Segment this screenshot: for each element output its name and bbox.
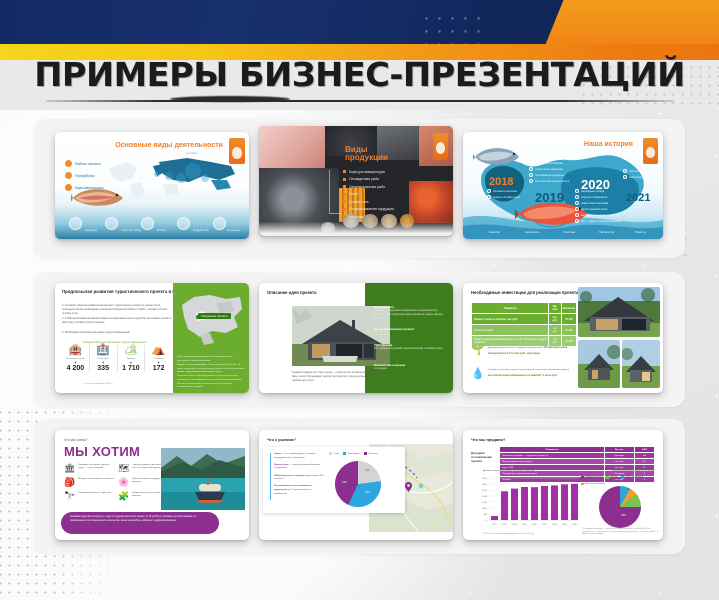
block-body: Тип туризма: внутренний, оздоровительный…	[374, 347, 444, 351]
investment-note-1: 🌱 Единовременные выплаты сотрудникам орг…	[471, 345, 579, 356]
block-body: размещение модульных некапитальных соору…	[374, 309, 444, 321]
check-icon	[575, 189, 579, 193]
footer-bubble	[69, 217, 82, 230]
tourism-paragraph-1: 1. Согласно стратегии развития внутренне…	[62, 304, 174, 316]
sales-pie-legend: Размещение в домах Питание Прокат оборуд…	[581, 476, 653, 485]
brand-badge	[433, 133, 448, 160]
list-item: АО — лидер в своём направлении	[575, 218, 621, 224]
history-footer-label: Логистика	[563, 231, 575, 235]
block-link[interactable]: 2024-2026 г.г.	[374, 331, 444, 334]
we-want-kicker: Что мы хотим?	[64, 438, 87, 442]
legend-swatch	[343, 452, 346, 455]
bullet-icon	[343, 185, 346, 188]
bullet-icon	[343, 200, 346, 203]
backpack-icon: 🎒	[64, 478, 75, 487]
history-footer-label: Качество	[489, 231, 500, 235]
slide-activities[interactable]: Основные виды деятельности на 2021	[55, 132, 249, 239]
stat-value: 4 200	[62, 365, 89, 372]
photo-fish-fillet	[259, 126, 325, 168]
slide-history-title: Наша история	[584, 141, 633, 148]
stat-item: 🏨 Гостиницы и отели + 4 200	[62, 345, 90, 372]
pie-label-0: 8%	[627, 489, 630, 491]
slide-history[interactable]: Наша история 2018 2019 2020 2021 основан…	[463, 132, 663, 239]
pie-label-2: 43%	[342, 481, 347, 484]
products-list: Корм для аквакультуры Охлажденная рыба С…	[343, 168, 394, 221]
list-item: На Booking.com по городам представлено 1…	[274, 475, 324, 482]
timeline-year-2019: 2019	[535, 190, 564, 205]
history-footer-label: Надёжность	[525, 231, 540, 235]
house-photo-small	[622, 340, 660, 388]
check-icon	[529, 161, 533, 165]
brand-badge	[643, 138, 658, 164]
idea-block-1: Идея проекта размещение модульных некапи…	[374, 305, 444, 321]
hotel-icon: 🏨	[62, 345, 89, 356]
money-plant-icon: 🌱	[471, 345, 485, 356]
footer-bubble	[177, 217, 190, 230]
title-underline	[46, 100, 674, 102]
legend-entry: Отели	[329, 452, 339, 455]
binoculars-icon: 🔭	[64, 492, 75, 501]
svg-text:2023: 2023	[502, 524, 507, 526]
footer-label: Москва	[157, 229, 166, 233]
idea-block-4: Количество номеров 12 номеров	[374, 363, 444, 371]
footer-bubble	[141, 217, 154, 230]
svg-text:1 500: 1 500	[482, 502, 488, 504]
museum-icon: 🏛	[64, 464, 75, 473]
note-line: Регион благоприятный для экологического,…	[177, 383, 245, 390]
history-bullets-2020: расширение склада открытие в Мурманске н…	[575, 188, 621, 224]
legend-swatch	[606, 476, 609, 479]
legend-entry: Базы отдыха	[343, 452, 359, 455]
list-item: Рассматриваются ли возможность размещени…	[274, 485, 324, 496]
legend-dot-icon	[65, 172, 72, 179]
check-icon	[623, 169, 627, 173]
legend-swatch	[581, 476, 584, 479]
flower-icon: 🌸	[118, 478, 129, 487]
svg-text:2026: 2026	[532, 524, 537, 526]
list-item: Свежемороженая рыба	[343, 183, 394, 191]
investments-table: Параметр Ед. изм. Значение Общая стоимос…	[471, 302, 577, 347]
slide-sales[interactable]: Что мы продаем? Доходная составляющая пр…	[463, 430, 663, 540]
svg-text:2 500: 2 500	[482, 490, 488, 492]
slide-row-1: Основные виды деятельности на 2021	[34, 119, 685, 258]
slide-idea-title: Описание идеи проекта	[267, 290, 316, 295]
grid-cell: 🔭Организовать работу с туристами	[64, 492, 114, 501]
check-icon	[575, 195, 579, 199]
note-plain: Стоимость установки, очистки биологическ…	[488, 369, 569, 371]
idea-block-3: Тип туризма Тип туризма: внутренний, озд…	[374, 343, 444, 351]
grid-cell: 🏛Возродить посещение отдыхать отдых — в …	[64, 464, 114, 473]
check-icon	[575, 213, 579, 217]
market-content-card: Отдых — это старый формат и «номер» заго…	[263, 447, 405, 513]
check-icon	[575, 207, 579, 211]
svg-text:2028: 2028	[552, 524, 557, 526]
legend-entry: Размещение в домах	[581, 476, 602, 479]
table-row: Размер субсидии тыс. руб. 19 000	[472, 325, 577, 336]
list-item: Корм для аквакультуры	[343, 168, 394, 176]
stat-value: 172	[145, 365, 172, 372]
slide-products[interactable]: Виды продукции Корм для аквакультуры Охл…	[259, 126, 453, 236]
footer-label: Владивосток	[193, 229, 208, 233]
history-bullets-2018: основание компании первые поставки рыбы	[487, 188, 520, 200]
legend-entry: Дополнительные услуги	[581, 483, 605, 486]
check-icon	[529, 179, 533, 183]
photo-seafood-bowl	[409, 181, 453, 223]
activities-footer-band: Мурманск Санкт-Петербург Москва Владивос…	[55, 213, 249, 239]
check-icon	[623, 175, 627, 179]
check-icon	[575, 219, 579, 223]
slide-market[interactable]: Что с рынком?	[259, 430, 453, 540]
bullet-icon	[343, 215, 346, 218]
list-item: Охлажденная рыба	[343, 176, 394, 184]
legend-entry: Питание	[606, 476, 617, 479]
slide-activities-title: Основные виды деятельности	[115, 142, 223, 149]
check-icon	[529, 155, 533, 159]
pie-chart-title: Структура выручки по проекту в % от объё…	[611, 470, 655, 472]
puzzle-icon: 🧩	[118, 492, 129, 501]
footer-label: Мурманск	[85, 229, 97, 233]
pie-label-3: 75%	[621, 514, 626, 517]
note-line: Туристическая привлекательность Калужско…	[177, 356, 245, 363]
svg-text:2030: 2030	[572, 524, 577, 526]
world-map-graphic	[107, 154, 239, 202]
leader-line	[329, 170, 341, 214]
slide-project-idea[interactable]: Описание идеи проекта	[259, 283, 453, 393]
svg-text:2027: 2027	[542, 524, 547, 526]
idea-caption: В рамках создания мест базы отдыха — стр…	[292, 372, 388, 384]
idea-block-2: Сроки реализации проекта 2024-2026 г.г.	[374, 327, 444, 334]
check-icon	[487, 195, 491, 199]
bullet-icon	[343, 208, 346, 211]
footer-bubble	[213, 217, 226, 230]
glamping-icon: ⛺	[145, 345, 172, 356]
fish-illustration-top	[473, 142, 521, 170]
pie-label-1: 34%	[365, 491, 370, 494]
list-item: Снеки	[343, 191, 394, 199]
legend-label: Рыбная торговля	[75, 162, 100, 166]
slide-row-2: Предпосылки развития туристического прое…	[34, 272, 685, 407]
bullet-icon	[343, 178, 346, 181]
products-title-line2: продукции	[345, 153, 388, 162]
list-item: Слабая соль	[343, 198, 394, 206]
list-item: новый бренд	[623, 174, 651, 180]
history-bullets-2019: открытие первого цеха переработки выход …	[529, 154, 577, 184]
note-line: Калужская область обладает развитой тран…	[177, 375, 245, 382]
sales-side-label: Доходная составляющая проекта	[471, 451, 497, 463]
legend-dot-icon	[65, 160, 72, 167]
we-want-grid: 🏛Возродить посещение отдыхать отдых — в …	[64, 464, 168, 501]
stat-value: 1 710	[118, 365, 145, 372]
we-want-headline: МЫ ХОТИМ	[64, 444, 140, 459]
legend-item: Рыбная торговля	[65, 160, 103, 167]
list-item: более 50 партнёров в России	[529, 178, 577, 184]
tourism-paragraph-3: 3. Необходимо строительство новых средст…	[62, 331, 174, 335]
pie-label-1: 6%	[602, 497, 605, 499]
footer-bubble	[105, 217, 118, 230]
house-photo-medium	[578, 340, 620, 388]
check-icon	[575, 201, 579, 205]
svg-text:0: 0	[486, 520, 488, 522]
bullet-icon	[343, 170, 346, 173]
footer-label: Астрахань	[227, 229, 240, 233]
bar-chart-footnote: В 2023 г. объявлен ожидаемый выручкой. С…	[483, 533, 534, 535]
table-row: Общая стоимость проекта, тыс. руб. тыс. …	[472, 314, 577, 325]
header-banner: ПРИМЕРЫ БИЗНЕС-ПРЕЗЕНТАЦИЙ	[0, 0, 719, 110]
slide-sales-title: Что мы продаем?	[471, 437, 505, 442]
check-icon	[529, 167, 533, 171]
tourism-green-notes: Туристическая привлекательность Калужско…	[177, 356, 245, 390]
stats-footnote: в % к числу номеров в 2019 г.	[83, 383, 113, 385]
title-underline-accent	[170, 96, 290, 102]
svg-text:2 000: 2 000	[482, 496, 488, 498]
we-want-audience-pill: Основная аудитория на проекту: люди со с…	[61, 512, 219, 534]
column-header: Параметр	[472, 303, 549, 314]
list-item: первые поставки рыбы	[487, 194, 520, 200]
block-body: 12 номеров	[374, 367, 444, 371]
slide-investments-title: Необходимые инвестиции для реализации пр…	[471, 290, 578, 295]
fish-logo-icon	[436, 142, 445, 154]
note-plain: Единовременные выплаты сотрудникам орган…	[488, 347, 543, 349]
history-footer-label: Развитие	[635, 231, 646, 235]
slide-we-want[interactable]: Что мы хотим? МЫ ХОТИМ 🏛Возродить посеще…	[55, 430, 249, 540]
bullet-icon	[343, 193, 346, 196]
legend-swatch	[364, 452, 367, 455]
note-bold: системой водоснабжения составляет 1 млн …	[488, 373, 558, 377]
svg-text:500: 500	[483, 514, 487, 516]
russia-map-graphic	[176, 287, 246, 361]
revenue-bar-chart: 3 5003 0002 500 2 0001 5001 000 5000	[477, 474, 581, 532]
history-bullets-2021: собственный флот новый бренд	[623, 168, 651, 180]
svg-text:2022: 2022	[492, 524, 497, 526]
trout-illustration	[71, 184, 125, 210]
check-icon	[529, 173, 533, 177]
slide-investments[interactable]: Необходимые инвестиции для реализации пр…	[463, 283, 663, 393]
list-item: Пример базы — самый популярный вариант С…	[274, 464, 324, 471]
svg-text:3 000: 3 000	[482, 484, 488, 486]
svg-text:2024: 2024	[512, 524, 517, 526]
bar-chart-title: Динамика выручки по проекту 2023-2030 гг…	[483, 470, 535, 472]
stat-value: 335	[90, 365, 117, 372]
note-line: Входит в список территорий с «Золотым Ко…	[177, 364, 245, 375]
map-icon: 🗺	[118, 464, 129, 473]
sanatorium-icon: 🏥	[90, 345, 117, 356]
list-item: Консервы	[343, 213, 394, 221]
market-pie-legend: Отели Базы отдыха Глэмпинги	[329, 452, 378, 455]
fish-logo-icon	[646, 147, 655, 158]
stat-item: ⛺ Глэмпинги + 172	[145, 345, 172, 372]
legend-swatch	[581, 483, 584, 486]
camp-icon: 🏕	[118, 345, 145, 356]
legend-swatch	[329, 452, 332, 455]
check-icon	[487, 189, 491, 193]
legend-entry: Глэмпинги	[364, 452, 378, 455]
legend-entry: Прокат оборудования	[621, 476, 643, 479]
svg-text:3 500: 3 500	[482, 478, 488, 480]
page-background: ПРИМЕРЫ БИЗНЕС-ПРЕЗЕНТАЦИЙ Основные виды…	[0, 0, 719, 600]
grid-cell: 🎒Внедрить интерактивные в активные	[64, 478, 114, 487]
slide-row-3: Что мы хотим? МЫ ХОТИМ 🏛Возродить посеще…	[34, 419, 685, 554]
svg-text:1 000: 1 000	[482, 508, 488, 510]
slide-tourism-background[interactable]: Предпосылки развития туристического прое…	[55, 283, 249, 393]
footer-label: Санкт-Петербург	[121, 229, 141, 233]
list-item: Полуфабрикатная продукция	[343, 206, 394, 214]
slide-market-title: Что с рынком?	[267, 437, 296, 442]
stats-row: 🏨 Гостиницы и отели + 4 200 🏥 Санатории …	[62, 345, 172, 372]
pie-label-2: 11%	[601, 505, 605, 507]
svg-text:2029: 2029	[562, 524, 567, 526]
sales-pie-chart: 8% 6% 11% 75%	[599, 486, 641, 528]
map-pin-label: Калужская область	[198, 313, 231, 319]
house-photo-large	[578, 287, 660, 337]
legend-label: Переработка	[75, 174, 94, 178]
timeline-year-2018: 2018	[489, 176, 513, 188]
sales-footnote: * Распределение доходов — составлено из …	[582, 528, 658, 536]
history-footer-label: Партнёрство	[599, 231, 614, 235]
column-header: Ед. изм.	[549, 303, 562, 314]
header-inner-dots	[420, 12, 488, 44]
timeline-year-2021: 2021	[626, 192, 650, 204]
market-bullets: Отдых — это старый формат и «номер» заго…	[270, 453, 324, 500]
list-item: Отдых — это старый формат и «номер» заго…	[274, 453, 324, 460]
legend-swatch	[621, 476, 624, 479]
market-pie-chart: 23% 34% 43%	[335, 461, 381, 507]
tourism-paragraph-2: 2. Стабильный объём вложений привёл к во…	[62, 317, 174, 325]
pie-label-0: 23%	[365, 469, 370, 472]
svg-text:2025: 2025	[522, 524, 527, 526]
stat-item: 🏕 Турбазы + 1 710	[118, 345, 146, 372]
column-header: Значение	[561, 303, 576, 314]
investment-note-2: 💧 Стоимость установки, очистки биологиче…	[471, 369, 579, 380]
stat-item: 🏥 Санатории + 335	[90, 345, 118, 372]
lake-boat-photo	[161, 448, 245, 510]
water-icon: 💧	[471, 369, 485, 380]
slide-products-title: Виды продукции	[345, 146, 388, 163]
page-title: ПРИМЕРЫ БИЗНЕС-ПРЕЗЕНТАЦИЙ	[0, 55, 719, 94]
legend-item: Переработка	[65, 172, 103, 179]
table-header-row: Параметр Ед. изм. Значение	[472, 303, 577, 314]
photo-bottom-fade	[259, 222, 453, 236]
